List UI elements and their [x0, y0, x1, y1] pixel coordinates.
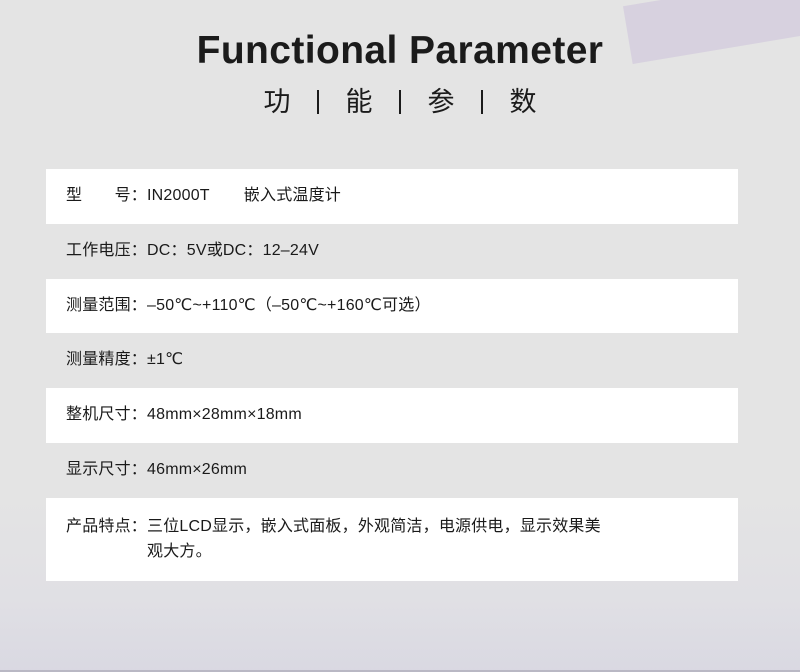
- table-row: 测量精度： ±1℃: [46, 333, 738, 388]
- page-title-english: Functional Parameter: [0, 28, 800, 74]
- spec-value-range: –50℃~+110℃（–50℃~+160℃可选）: [147, 294, 724, 319]
- title-cn-char-1: 功: [263, 86, 290, 118]
- page-title-chinese: 功 能 参 数: [0, 86, 800, 118]
- table-row: 整机尺寸： 48mm×28mm×18mm: [46, 388, 738, 443]
- specification-table: 型 号： IN2000T嵌入式温度计 工作电压： DC：5V或DC：12–24V…: [46, 169, 738, 581]
- spec-label-model: 型 号：: [66, 184, 147, 209]
- title-separator-3: [481, 90, 483, 114]
- spec-label-accuracy: 测量精度：: [66, 348, 147, 373]
- spec-label-features: 产品特点：: [66, 515, 147, 540]
- spec-value-dimensions: 48mm×28mm×18mm: [147, 403, 724, 428]
- spec-value-display-size: 46mm×26mm: [147, 458, 724, 483]
- spec-label-dimensions: 整机尺寸：: [66, 403, 147, 428]
- spec-value-model-desc: 嵌入式温度计: [244, 187, 341, 204]
- title-cn-char-3: 参: [428, 86, 455, 118]
- title-cn-char-4: 数: [510, 86, 537, 118]
- title-separator-2: [399, 90, 401, 114]
- spec-value-features: 三位LCD显示，嵌入式面板，外观简洁，电源供电，显示效果美观大方。: [147, 515, 724, 565]
- spec-label-display-size: 显示尺寸：: [66, 458, 147, 483]
- spec-value-features-line1: 三位LCD显示，嵌入式面板，外观简洁，电源供电，显示效果美: [147, 518, 601, 535]
- table-row: 型 号： IN2000T嵌入式温度计: [46, 169, 738, 224]
- spec-value-voltage: DC：5V或DC：12–24V: [147, 239, 724, 264]
- table-row: 产品特点： 三位LCD显示，嵌入式面板，外观简洁，电源供电，显示效果美观大方。: [46, 498, 738, 582]
- spec-value-model: IN2000T嵌入式温度计: [147, 184, 724, 209]
- table-row: 测量范围： –50℃~+110℃（–50℃~+160℃可选）: [46, 279, 738, 334]
- title-cn-char-2: 能: [345, 86, 372, 118]
- spec-label-voltage: 工作电压：: [66, 239, 147, 264]
- spec-value-features-line2: 观大方。: [147, 540, 724, 565]
- spec-value-model-code: IN2000T: [147, 187, 210, 204]
- product-spec-page: Functional Parameter 功 能 参 数 型 号： IN2000…: [0, 0, 800, 672]
- page-header: Functional Parameter 功 能 参 数: [0, 0, 800, 118]
- spec-label-range: 测量范围：: [66, 294, 147, 319]
- title-separator-1: [317, 90, 319, 114]
- table-row: 工作电压： DC：5V或DC：12–24V: [46, 224, 738, 279]
- table-row: 显示尺寸： 46mm×26mm: [46, 443, 738, 498]
- spec-value-accuracy: ±1℃: [147, 348, 724, 373]
